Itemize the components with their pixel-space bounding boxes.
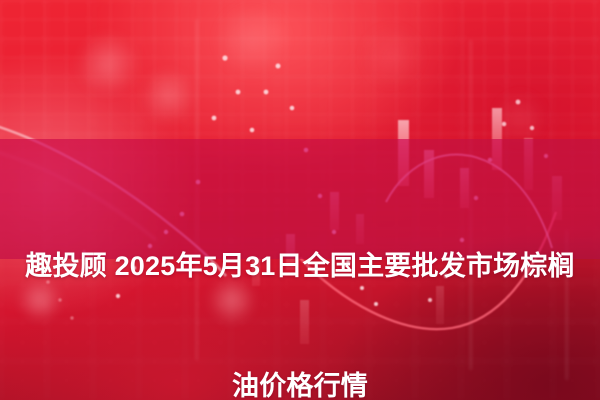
banner-title: 趣投顾 2025年5月31日全国主要批发市场棕榈 油价格行情: [0, 166, 600, 400]
banner-title-line-2: 油价格行情: [0, 366, 600, 400]
banner-title-line-1: 趣投顾 2025年5月31日全国主要批发市场棕榈: [0, 246, 600, 286]
promo-banner: 趣投顾 2025年5月31日全国主要批发市场棕榈 油价格行情: [0, 0, 600, 400]
